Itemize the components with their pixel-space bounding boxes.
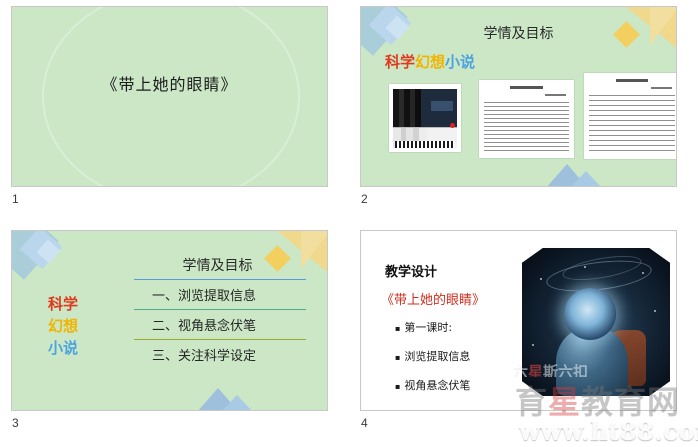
document-byline-bar xyxy=(651,87,672,89)
document-text-lines xyxy=(484,102,569,154)
slide-1-title: 《带上她的眼睛》 xyxy=(12,71,327,95)
slide-4-bullet-list: 第一课时: 浏览提取信息 视角悬念伏笔 xyxy=(395,319,470,406)
star-icon xyxy=(540,278,542,280)
slide-cell-2[interactable]: 学情及目标 科学幻想小说 2 xyxy=(349,0,698,223)
list-item: 一、浏览提取信息 xyxy=(134,280,306,309)
star-icon xyxy=(584,266,586,268)
star-icon xyxy=(642,272,644,274)
star-icon xyxy=(654,310,656,312)
slide-3-title: 学情及目标 xyxy=(130,255,305,275)
left-column-huanxiang: 幻想 xyxy=(48,315,78,337)
circle-watermark-shape xyxy=(42,6,300,187)
slide-number-4: 4 xyxy=(361,416,368,430)
slide-4[interactable]: 教学设计 《带上她的眼睛》 第一课时: 浏览提取信息 视角悬念伏笔 xyxy=(360,230,677,411)
star-icon xyxy=(532,344,534,346)
document-text-lines xyxy=(589,95,675,155)
book-sticker-icon xyxy=(450,123,455,128)
slide-4-heading: 教学设计 xyxy=(385,261,437,280)
subtitle-part-kexue: 科学 xyxy=(385,53,415,71)
slide-2[interactable]: 学情及目标 科学幻想小说 xyxy=(360,6,677,187)
slide-3[interactable]: 学情及目标 科学 幻想 小说 一、浏览提取信息 二、视角悬念伏笔 三、关注科学设… xyxy=(11,230,328,411)
slide-number-1: 1 xyxy=(12,192,19,206)
slide-cell-1[interactable]: 《带上她的眼睛》 1 xyxy=(0,0,349,223)
book-row-base xyxy=(393,127,457,148)
left-column-xiaoshuo: 小说 xyxy=(48,337,78,359)
book-spines xyxy=(393,89,457,131)
blue-diamond-medium-icon xyxy=(20,230,62,269)
slide-number-3: 3 xyxy=(12,416,19,430)
list-item: 第一课时: xyxy=(395,319,470,335)
blue-mountain-small-icon xyxy=(221,395,253,411)
list-item: 三、关注科学设定 xyxy=(134,340,306,369)
slide-3-left-column: 科学 幻想 小说 xyxy=(48,293,78,359)
blue-mountain-large-icon xyxy=(197,388,239,411)
blue-mountain-small-icon xyxy=(570,171,602,187)
slide-4-subheading: 《带上她的眼睛》 xyxy=(381,289,485,308)
yellow-triangle-secondary-icon xyxy=(301,230,328,269)
document-heading-bar xyxy=(479,86,574,89)
slide-number-2: 2 xyxy=(361,192,368,206)
blue-mountain-large-icon xyxy=(546,164,588,187)
blue-diamond-large-icon xyxy=(11,230,59,280)
list-item: 浏览提取信息 xyxy=(395,348,470,364)
document-byline-bar xyxy=(545,94,566,96)
list-item: 二、视角悬念伏笔 xyxy=(134,310,306,339)
list-item: 视角悬念伏笔 xyxy=(395,377,470,393)
document-page-1 xyxy=(479,80,574,158)
slide-1[interactable]: 《带上她的眼睛》 xyxy=(11,6,328,187)
subtitle-part-huanxiang: 幻想 xyxy=(415,53,445,71)
helmet-orb-shape xyxy=(564,288,616,340)
slide-2-title: 学情及目标 xyxy=(361,23,676,43)
document-page-2 xyxy=(584,73,677,159)
slide-2-subtitle: 科学幻想小说 xyxy=(385,51,475,72)
blue-diamond-small-icon xyxy=(36,239,60,263)
document-heading-bar xyxy=(584,79,677,82)
astronaut-space-illustration xyxy=(522,248,670,396)
slide-cell-3[interactable]: 学情及目标 科学 幻想 小说 一、浏览提取信息 二、视角悬念伏笔 三、关注科学设… xyxy=(0,224,349,447)
slide-thumbnail-grid: 《带上她的眼睛》 1 学情及目标 科学幻想小说 xyxy=(0,0,698,447)
subtitle-part-xiaoshuo: 小说 xyxy=(445,53,475,71)
slide-3-objective-list: 一、浏览提取信息 二、视角悬念伏笔 三、关注科学设定 xyxy=(134,279,306,369)
slide-cell-4[interactable]: 教学设计 《带上她的眼睛》 第一课时: 浏览提取信息 视角悬念伏笔 4 xyxy=(349,224,698,447)
left-column-kexue: 科学 xyxy=(48,293,78,315)
book-collection-photo xyxy=(389,84,461,152)
